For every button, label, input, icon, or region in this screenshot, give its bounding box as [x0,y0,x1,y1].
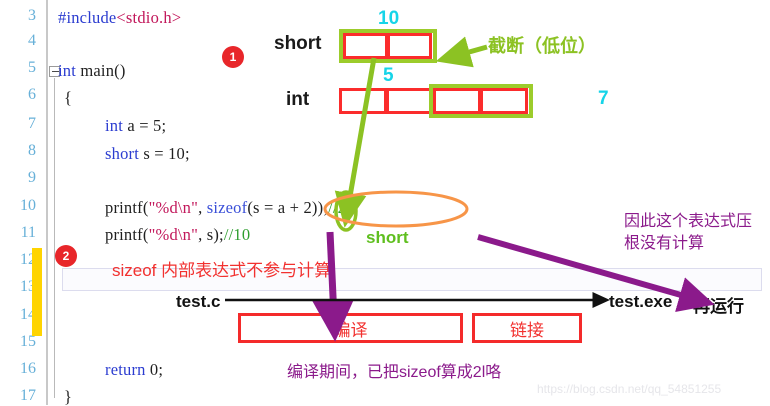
source-file-label: test.c [176,292,220,312]
short-type-annotation: short [366,228,409,248]
sizeof-expression: (s = a + 2)); [247,198,328,217]
code-line-3[interactable]: #include<stdio.h> [58,10,181,27]
keyword-sizeof: sizeof [207,198,248,217]
watermark: https://blog.csdn.net/qq_54851255 [537,382,721,396]
code-line-11[interactable]: printf("%d\n", s);//10 [105,227,250,244]
line-number: 10 [20,198,36,214]
brace-open: { [64,88,72,107]
int-highlight-box [429,84,533,118]
pipeline-stage-link: 链接 [472,313,582,343]
run-again-label: 再运行 [693,292,744,317]
expr-not-computed-line2: 根没有计算 [624,229,704,253]
line-number: 6 [28,87,36,103]
arg-separator: , [198,198,207,217]
pipeline-stage-compile: 编译 [238,313,463,343]
line-number: 3 [28,8,36,24]
code-line-5[interactable]: int main() [58,63,126,80]
memory-cell [387,33,432,59]
truncate-note: 截断（低位） [488,32,596,58]
memory-cell [339,88,387,114]
short-row-label: short [274,33,322,55]
screenshot-root: 3 4 5 6 7 8 9 10 11 12 13 14 15 16 17 #i… [0,0,770,405]
int-row-value: 5 [383,65,394,87]
include-header: <stdio.h> [116,8,181,27]
declaration-s: s = 10; [139,144,190,163]
line-number: 8 [28,143,36,159]
editor-gutter: 3 4 5 6 7 8 9 10 11 12 13 14 15 16 17 [0,0,44,405]
code-line-8[interactable]: short s = 10; [105,146,190,163]
brace-close: } [64,387,72,406]
short-row-value: 10 [378,8,399,30]
memory-cell [343,33,388,59]
printf-call: printf( [105,225,149,244]
code-line-17[interactable]: } [64,389,72,406]
compile-time-note: 编译期间，已把sizeof算成2l咯 [287,358,501,382]
main-function: main() [76,61,126,80]
memory-cell [386,88,434,114]
return-value: 0; [146,360,164,379]
int-result-value: 7 [598,88,609,110]
include-directive: #include [58,8,116,27]
keyword-short: short [105,144,139,163]
line-number: 5 [28,60,36,76]
format-string: "%d\n" [149,225,199,244]
comment-result-10: //10 [224,225,250,244]
format-string: "%d\n" [149,198,199,217]
line-number: 16 [20,361,36,377]
sizeof-expression-ellipse-icon [325,192,467,226]
truncate-arrow-icon [455,47,487,56]
line-number: 17 [20,388,36,404]
int-row-label: int [286,89,309,111]
code-line-16[interactable]: return 0; [105,362,163,379]
declaration-a: a = 5; [123,116,166,135]
step-badge-1: 1 [222,46,244,68]
line-number: 4 [28,33,36,49]
step-badge-2: 2 [55,245,77,267]
line-number: 11 [21,225,36,241]
output-file-label: test.exe [609,292,672,312]
printf-tail: , s); [198,225,224,244]
line-number: 7 [28,116,36,132]
printf-call: printf( [105,198,149,217]
code-line-6[interactable]: { [64,90,72,107]
gutter-divider [46,0,48,405]
expr-not-computed-line1: 因此这个表达式压 [624,207,752,231]
line-number: 9 [28,170,36,186]
line-number: 15 [20,334,36,350]
code-line-10[interactable]: printf("%d\n", sizeof(s = a + 2));//2 [105,200,346,217]
keyword-int: int [58,61,76,80]
indent-guide [54,78,55,398]
code-line-7[interactable]: int a = 5; [105,118,166,135]
gutter-change-marker [32,248,42,336]
short-to-variable-arrow-icon [348,58,374,208]
keyword-return: return [105,360,146,379]
comment-result-2: //2 [328,198,346,217]
sizeof-note: sizeof 内部表达式不参与计算 [112,256,331,281]
keyword-int: int [105,116,123,135]
